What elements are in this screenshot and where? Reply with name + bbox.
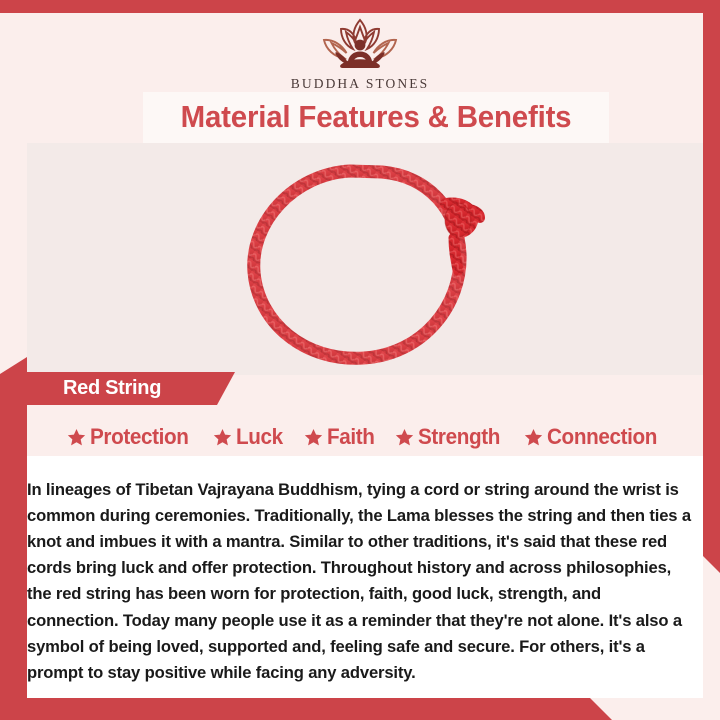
frame-right-bar	[703, 13, 720, 573]
frame-bottom-bar	[0, 698, 612, 720]
keyword-item-luck: Luck	[212, 424, 286, 450]
frame-left-bar	[0, 357, 27, 720]
star-icon	[394, 427, 415, 448]
keyword-item-faith: Faith	[303, 424, 378, 450]
star-icon	[66, 427, 87, 448]
keyword-label: Faith	[327, 424, 375, 450]
red-braided-cord-bracelet	[232, 158, 494, 376]
brand-block: BUDDHA STONES	[0, 16, 720, 92]
product-label: Red String	[63, 372, 161, 405]
keyword-item-connection: Connection	[523, 424, 664, 450]
description-text: In lineages of Tibetan Vajrayana Buddhis…	[27, 477, 693, 687]
lotus-meditation-icon	[0, 16, 720, 74]
keyword-label: Strength	[418, 424, 500, 450]
keyword-item-protection: Protection	[66, 424, 195, 450]
keyword-label: Connection	[547, 424, 657, 450]
keyword-label: Luck	[236, 424, 283, 450]
star-icon	[212, 427, 233, 448]
frame-top-bar	[0, 0, 720, 13]
star-icon	[303, 427, 324, 448]
keyword-item-strength: Strength	[394, 424, 505, 450]
brand-name: BUDDHA STONES	[0, 76, 720, 92]
page-title: Material Features & Benefits	[155, 92, 598, 143]
keyword-list: Protection Luck Faith	[27, 418, 703, 456]
material-features-poster: BUDDHA STONES Material Features & Benefi…	[0, 0, 720, 720]
keyword-label: Protection	[90, 424, 189, 450]
star-icon	[523, 427, 544, 448]
